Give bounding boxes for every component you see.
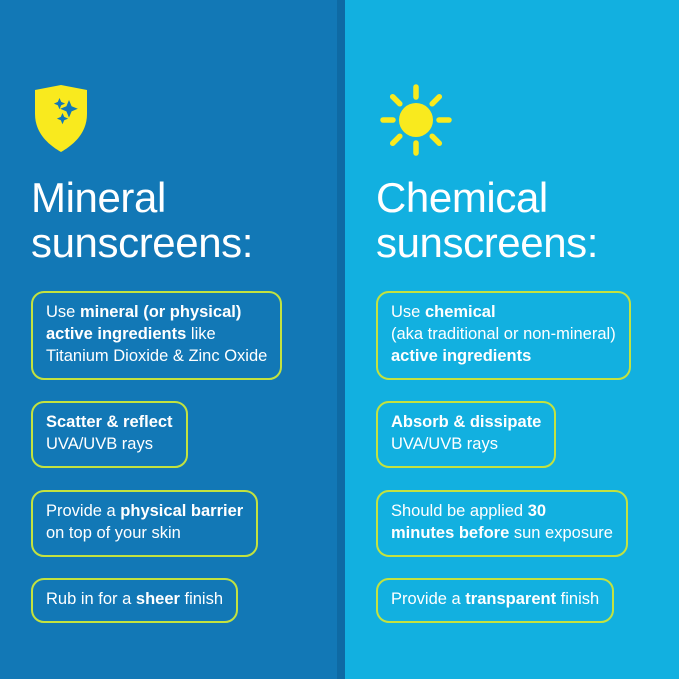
chemical-heading: Chemical sunscreens: [376, 176, 665, 265]
fact-text-emphasis: Scatter & reflect [46, 413, 173, 431]
mineral-facts-list: Use mineral (or physical)active ingredie… [31, 291, 331, 637]
fact-absorb-dissipate: Absorb & dissipateUVA/UVB rays [376, 401, 556, 468]
chemical-sunscreen-panel: Chemical sunscreens: Use chemical(aka tr… [345, 0, 679, 679]
fact-line: minutes before sun exposure [391, 523, 613, 545]
fact-text: Titanium Dioxide & Zinc Oxide [46, 347, 267, 365]
fact-line: Use mineral (or physical) [46, 302, 267, 324]
fact-scatter-reflect: Scatter & reflectUVA/UVB rays [31, 401, 188, 468]
mineral-heading: Mineral sunscreens: [31, 176, 331, 265]
fact-text: like [186, 325, 215, 343]
fact-line: Should be applied 30 [391, 501, 613, 523]
fact-text: Should be applied [391, 502, 528, 520]
mineral-sunscreen-panel: Mineral sunscreens: Use mineral (or phys… [0, 0, 345, 679]
fact-text-emphasis: chemical [425, 303, 496, 321]
fact-text-emphasis: Absorb & dissipate [391, 413, 541, 431]
fact-chemical-ingredients: Use chemical(aka traditional or non-mine… [376, 291, 631, 380]
fact-text-emphasis: active ingredients [46, 325, 186, 343]
fact-text: (aka traditional or non-mineral) [391, 325, 616, 343]
fact-active-ingredients: Use mineral (or physical)active ingredie… [31, 291, 282, 380]
fact-line: UVA/UVB rays [46, 434, 173, 456]
fact-text: Use [391, 303, 425, 321]
fact-text-emphasis: minutes before [391, 524, 509, 542]
fact-line: Scatter & reflect [46, 412, 173, 434]
fact-text-emphasis: physical barrier [120, 502, 243, 520]
chemical-facts-list: Use chemical(aka traditional or non-mine… [376, 291, 665, 637]
fact-text: Provide a [46, 502, 120, 520]
sunscreen-comparison-infographic: Mineral sunscreens: Use mineral (or phys… [0, 0, 679, 679]
sun-icon [376, 84, 665, 158]
fact-line: Provide a transparent finish [391, 589, 599, 611]
fact-text-emphasis: sheer [136, 590, 180, 608]
fact-transparent-finish: Provide a transparent finish [376, 578, 614, 623]
fact-line: Provide a physical barrier [46, 501, 243, 523]
fact-text-emphasis: 30 [528, 502, 546, 520]
fact-line: active ingredients [391, 346, 616, 368]
fact-line: Use chemical [391, 302, 616, 324]
fact-text: UVA/UVB rays [46, 435, 153, 453]
fact-line: Absorb & dissipate [391, 412, 541, 434]
fact-text: finish [180, 590, 223, 608]
fact-line: Titanium Dioxide & Zinc Oxide [46, 346, 267, 368]
fact-line: (aka traditional or non-mineral) [391, 324, 616, 346]
fact-text-emphasis: transparent [465, 590, 556, 608]
fact-apply-30-minutes: Should be applied 30minutes before sun e… [376, 490, 628, 557]
fact-sheer-finish: Rub in for a sheer finish [31, 578, 238, 623]
fact-line: Rub in for a sheer finish [46, 589, 223, 611]
shield-sparkle-icon [31, 84, 331, 158]
fact-text: sun exposure [509, 524, 613, 542]
fact-text: Provide a [391, 590, 465, 608]
fact-line: UVA/UVB rays [391, 434, 541, 456]
fact-physical-barrier: Provide a physical barrieron top of your… [31, 490, 258, 557]
fact-text: UVA/UVB rays [391, 435, 498, 453]
fact-text-emphasis: active ingredients [391, 347, 531, 365]
fact-text: finish [556, 590, 599, 608]
fact-line: on top of your skin [46, 523, 243, 545]
fact-text: on top of your skin [46, 524, 181, 542]
fact-text: Rub in for a [46, 590, 136, 608]
fact-text-emphasis: mineral (or physical) [80, 303, 241, 321]
fact-line: active ingredients like [46, 324, 267, 346]
fact-text: Use [46, 303, 80, 321]
